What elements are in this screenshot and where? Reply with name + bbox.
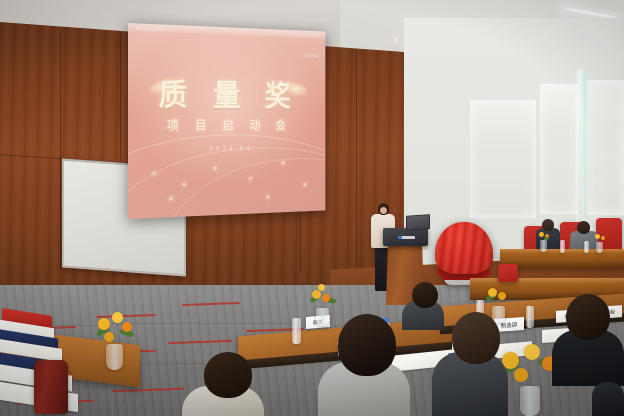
attendee-head bbox=[204, 352, 252, 398]
podium-logo-icon bbox=[398, 236, 415, 239]
window-mullion bbox=[578, 70, 582, 222]
attendee-head bbox=[452, 312, 500, 364]
attendee-body bbox=[592, 382, 624, 416]
flower-bloom bbox=[112, 312, 123, 323]
conference-room-photo: 质 量 奖 项 目 启 动 会 2024.04 质量奖项目启动会 项目启动会 bbox=[0, 0, 624, 416]
flower-bloom bbox=[539, 232, 544, 237]
downlight-icon bbox=[392, 38, 399, 42]
flower-bloom bbox=[514, 368, 528, 382]
flower-bloom bbox=[122, 322, 132, 332]
presenter-face bbox=[380, 207, 387, 214]
flower-vase bbox=[316, 308, 329, 326]
water-bottle bbox=[526, 306, 534, 328]
flower-bloom bbox=[524, 344, 540, 360]
flower-bloom bbox=[498, 292, 506, 300]
attendee-head bbox=[566, 294, 610, 340]
window-pane bbox=[586, 80, 624, 215]
projection-screen: 质 量 奖 项 目 启 动 会 2024.04 质量奖项目启动会 项目启动会 bbox=[128, 23, 325, 219]
carpet-tile bbox=[205, 289, 301, 324]
laptop-on-podium bbox=[406, 214, 430, 231]
flower-bloom bbox=[98, 318, 110, 330]
flower-bloom bbox=[595, 234, 600, 239]
window-pane bbox=[470, 100, 536, 218]
flower-vase bbox=[540, 240, 547, 252]
attendee-head bbox=[577, 221, 590, 234]
wood-panel-seam bbox=[60, 30, 61, 270]
attendee-head bbox=[338, 314, 396, 376]
attendee-head bbox=[542, 219, 554, 231]
water-bottle bbox=[292, 318, 301, 344]
flower-vase bbox=[106, 344, 123, 370]
red-chair bbox=[498, 264, 518, 282]
window-glass-glow bbox=[582, 72, 588, 220]
carpet-tile bbox=[110, 291, 206, 324]
flower-bloom bbox=[601, 236, 605, 240]
flower-vase bbox=[520, 386, 540, 416]
window-pane bbox=[540, 84, 580, 214]
tiered-desk-top bbox=[470, 278, 624, 283]
flower-bloom bbox=[488, 288, 497, 297]
tiered-desk bbox=[500, 252, 624, 268]
thermos-flask bbox=[34, 360, 68, 414]
flower-bloom bbox=[312, 290, 321, 299]
projector-light-wash bbox=[128, 23, 325, 219]
water-bottle bbox=[584, 241, 589, 253]
flower-bloom bbox=[322, 294, 330, 302]
attendee-head bbox=[412, 282, 438, 308]
flower-bloom bbox=[318, 284, 325, 291]
water-bottle bbox=[560, 240, 565, 253]
wood-panel-seam bbox=[356, 50, 357, 270]
flower-bloom bbox=[104, 332, 114, 342]
flower-vase bbox=[596, 242, 603, 253]
presentation-slide: 质 量 奖 项 目 启 动 会 2024.04 质量奖项目启动会 项目启动会 bbox=[128, 23, 325, 219]
flower-leaf bbox=[544, 237, 549, 240]
